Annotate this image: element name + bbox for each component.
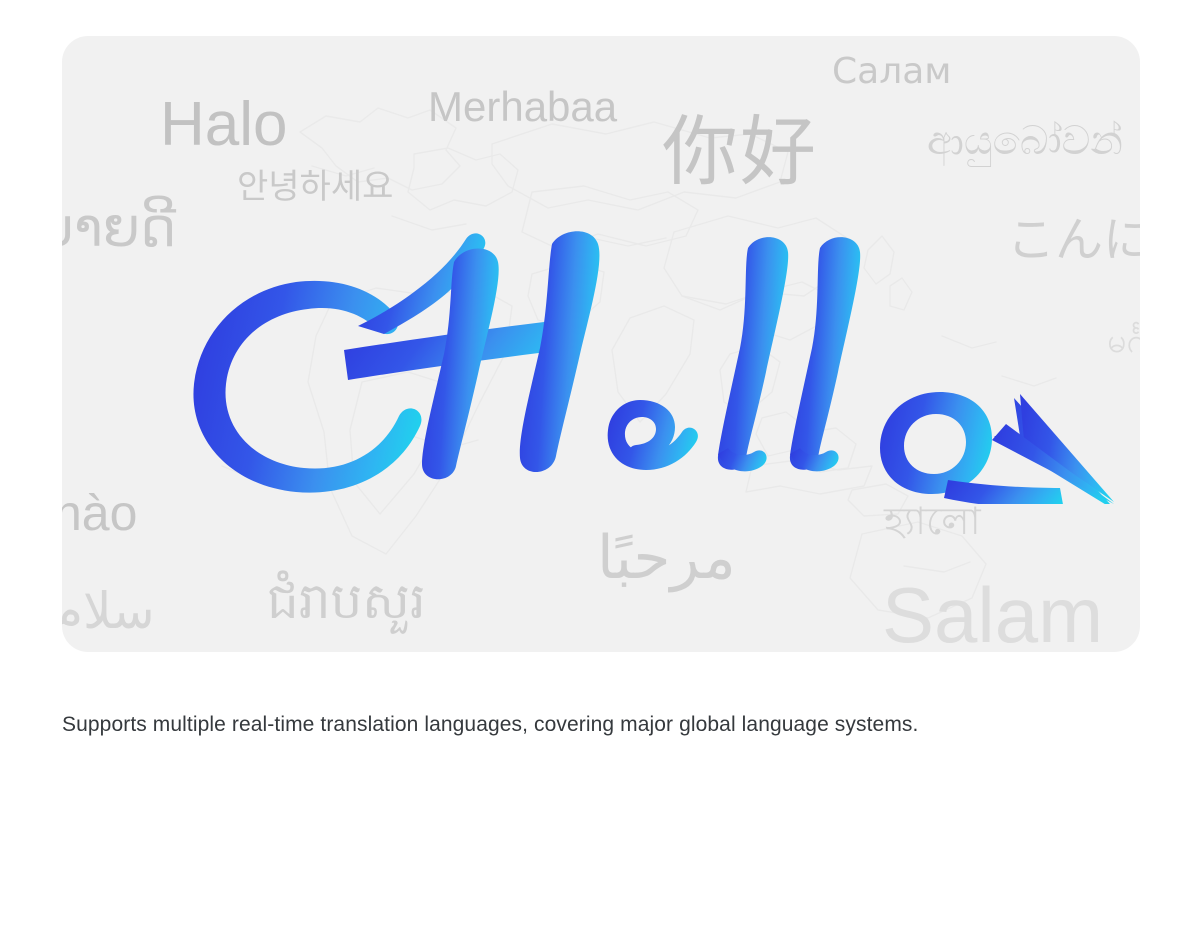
world-map-background xyxy=(62,36,1140,652)
hello-logo xyxy=(148,204,1140,504)
greeting-word-marhaba: مرحبًا xyxy=(597,528,736,588)
greeting-word-sabaidee: ບາຍດີ xyxy=(62,201,176,255)
greeting-word-salam-latin: Salam xyxy=(882,576,1103,652)
page-root: Halo Merhabaa Салам 你好 ආයුබෝවන් 안녕하세요 こん… xyxy=(0,0,1200,949)
greeting-word-merhabaa: Merhabaa xyxy=(428,86,617,128)
greeting-word-mingalaba: မင်္ဂ xyxy=(1107,324,1140,358)
greeting-word-hyalo: হ্যালো xyxy=(884,502,981,540)
greeting-words-layer: Halo Merhabaa Салам 你好 ආයුබෝවන් 안녕하세요 こん… xyxy=(62,36,1140,652)
greeting-word-halo: Halo xyxy=(160,94,288,156)
greeting-word-ayubowan: ආයුබෝවන් xyxy=(927,121,1123,161)
greeting-word-nihao: 你好 xyxy=(662,114,818,190)
greeting-word-chao: nào xyxy=(62,488,137,538)
hero-image-card: Halo Merhabaa Салам 你好 ආයුබෝවන් 안녕하세요 こん… xyxy=(62,36,1140,652)
arrow-right-icon xyxy=(992,394,1114,504)
greeting-word-salam-arabic: سلام xyxy=(62,586,155,636)
image-caption: Supports multiple real-time translation … xyxy=(62,711,1142,739)
greeting-word-konnichiwa: こんに xyxy=(1007,216,1140,264)
greeting-word-salam-cyrillic: Салам xyxy=(832,54,951,90)
greeting-word-chumreapsuor: ជំរាបសួរ xyxy=(267,576,426,626)
greeting-word-annyeonghaseyo: 안녕하세요 xyxy=(237,170,393,204)
